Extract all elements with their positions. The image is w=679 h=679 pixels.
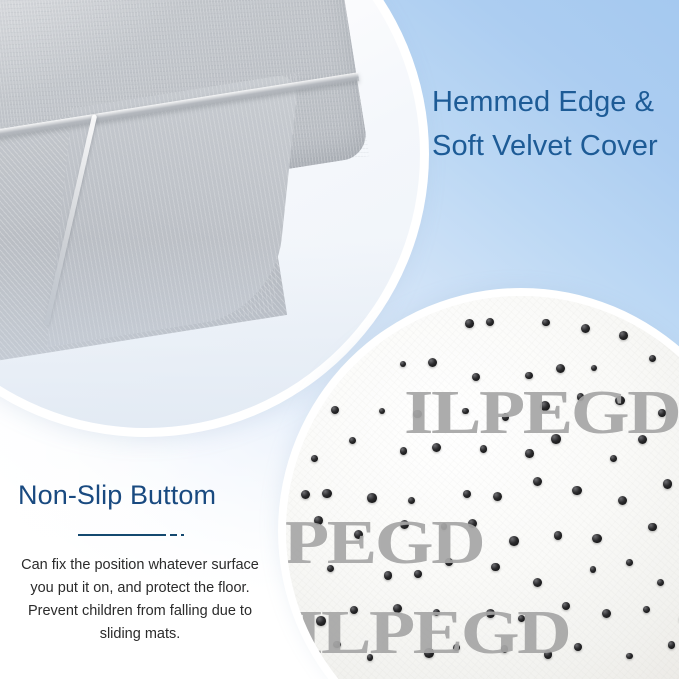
headline-line-2: Soft Velvet Cover [432, 124, 679, 168]
mat-grip-dot [668, 641, 675, 648]
divider-dash [170, 534, 177, 536]
mat-grip-dot [657, 579, 664, 586]
mat-grip-dot [574, 643, 582, 651]
mat-grip-dot [619, 331, 628, 340]
mat-grip-dot [533, 477, 542, 486]
mat-grip-dot [367, 493, 377, 503]
mat-grip-dot [465, 319, 474, 328]
feature-block: Non-Slip Buttom Can fix the position wha… [14, 478, 266, 646]
mat-grip-dot [626, 653, 633, 660]
divider-line [78, 534, 166, 536]
feature-title: Non-Slip Buttom [18, 478, 266, 512]
mat-grip-dot [649, 355, 656, 362]
mat-grip-dot [463, 490, 471, 498]
headline-line-1: Hemmed Edge & [432, 80, 679, 124]
mat-grip-dot [486, 318, 494, 326]
mat-photo-circle: ILPEGD ILPEGD ILPEGD [286, 296, 679, 679]
mat-grip-dot [400, 361, 407, 368]
mat-grip-dot [602, 609, 611, 618]
mat-grip-dot [554, 531, 562, 539]
mat-grip-dot [542, 319, 549, 326]
mat-grip-dot [491, 563, 499, 571]
mat-grip-dot [322, 489, 332, 499]
mat-grip-dot [311, 455, 318, 462]
mat-grip-dot [618, 496, 627, 505]
mat-grip-dot [663, 479, 673, 489]
feature-body-line-3: Prevent children from falling due to [14, 600, 266, 623]
headline: Hemmed Edge & Soft Velvet Cover [432, 80, 679, 168]
mat-brand-logo: ILPEGD [294, 598, 569, 669]
mat-grip-dot [591, 365, 598, 372]
feature-body: Can fix the position whatever surface yo… [14, 554, 266, 646]
mat-grip-dot [643, 606, 650, 613]
mat-grip-dot [493, 492, 502, 501]
feature-divider [14, 524, 266, 550]
mat-grip-dot [349, 437, 356, 444]
feature-body-line-4: sliding mats. [14, 623, 266, 646]
mat-grip-dot [509, 536, 519, 546]
feature-body-line-2: you put it on, and protect the floor. [14, 577, 266, 600]
mat-grip-dot [525, 449, 533, 457]
mat-grip-dot [533, 578, 543, 588]
mat-grip-dot [626, 559, 633, 566]
feature-body-line-1: Can fix the position whatever surface [14, 554, 266, 577]
mat-grip-dot [581, 324, 590, 333]
mat-grip-dot [610, 455, 617, 462]
mat-grip-dot [331, 406, 340, 415]
mat-grip-dot [648, 523, 656, 531]
mat-grip-dot [572, 486, 581, 495]
mat-grip-dot [301, 490, 310, 499]
mat-grip-dot [428, 358, 437, 367]
mat-brand-logo: ILPEGD [404, 378, 679, 449]
mat-grip-dot [379, 408, 386, 415]
product-feature-poster: ILPEGD ILPEGD ILPEGD Hemmed Edge & Soft … [0, 0, 679, 679]
mat-grip-dot [590, 566, 597, 573]
mat-grip-dot [556, 364, 566, 374]
mat-brand-logo: ILPEGD [286, 508, 483, 579]
divider-dot [181, 534, 184, 536]
mat-grip-dot [408, 497, 415, 504]
mat-grip-dot [592, 534, 602, 544]
